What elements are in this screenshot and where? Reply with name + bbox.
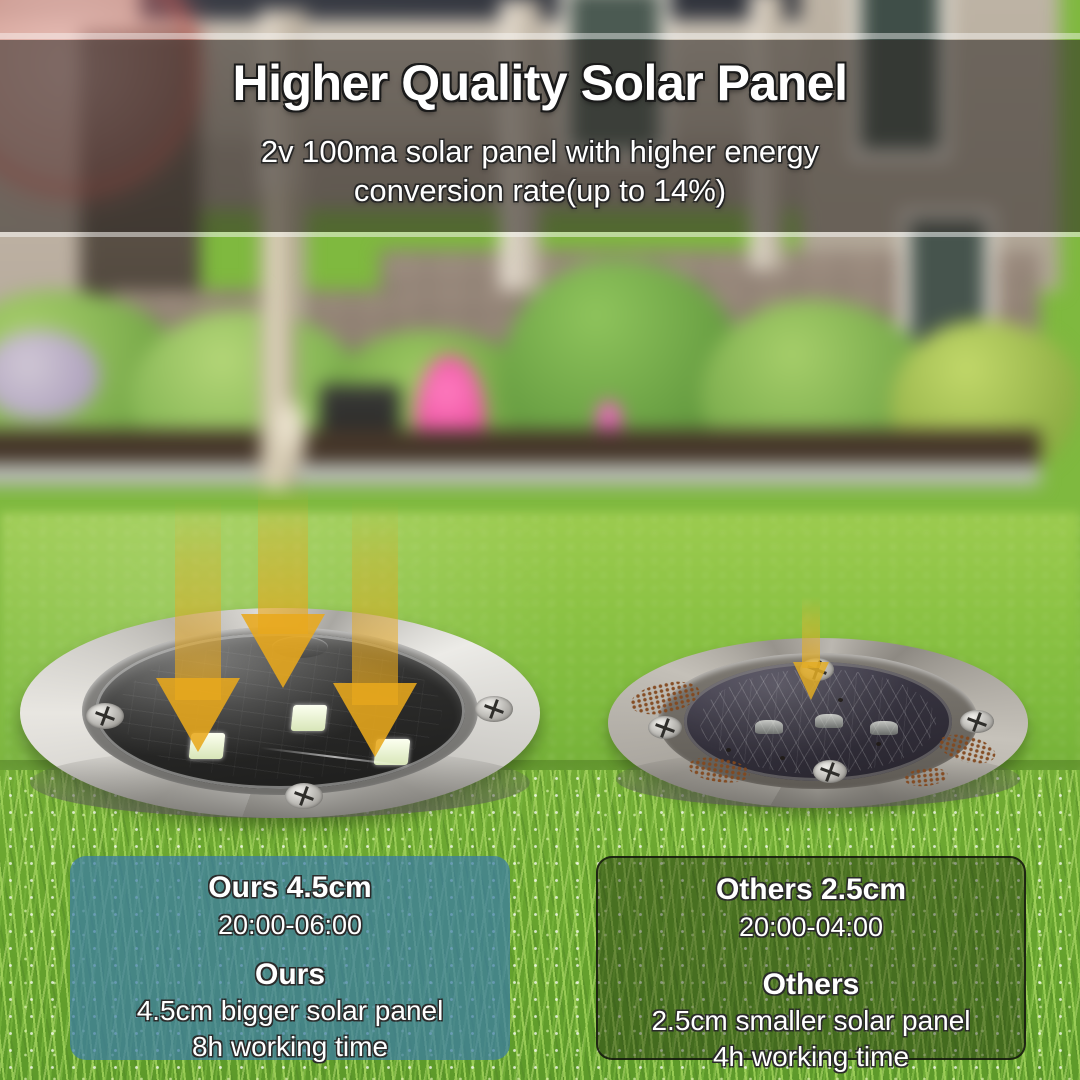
others-led-chip-2 xyxy=(815,714,843,728)
ours-card-detail-2: 8h working time xyxy=(70,1029,510,1065)
ours-card-time: 20:00-06:00 xyxy=(70,908,510,943)
others-card-title: Others 2.5cm xyxy=(598,872,1024,909)
arrow-head xyxy=(156,678,240,752)
others-card-time: 20:00-04:00 xyxy=(598,910,1024,945)
others-dirt-speck-2 xyxy=(876,742,881,746)
sunlight-arrow-ours-3 xyxy=(352,500,398,765)
sunlight-arrow-ours-2 xyxy=(258,488,308,708)
others-led-chip-3 xyxy=(870,721,898,735)
product-comparison-infographic: Higher Quality Solar Panel 2v 100ma sola… xyxy=(0,0,1080,1080)
ours-screw-3 xyxy=(285,783,323,809)
ours-screw-1 xyxy=(86,703,124,729)
garden-curb xyxy=(0,464,1040,486)
page-subtitle: 2v 100ma solar panel with higher energy … xyxy=(0,132,1080,211)
others-screw-1 xyxy=(648,716,682,739)
others-dirt-speck-4 xyxy=(780,756,785,760)
others-dirt-speck-3 xyxy=(838,698,843,702)
header-banner: Higher Quality Solar Panel 2v 100ma sola… xyxy=(0,40,1080,232)
arrow-shaft xyxy=(352,500,398,705)
sunlight-arrow-others-1 xyxy=(800,596,822,700)
others-dirt-speck-1 xyxy=(726,748,731,752)
arrow-head xyxy=(241,614,325,688)
arrow-shaft xyxy=(175,500,221,700)
arrow-head xyxy=(333,683,417,757)
others-card-detail-1: 2.5cm smaller solar panel xyxy=(598,1003,1024,1039)
banner-bottom-highlight-band xyxy=(0,232,1080,237)
others-card-brand: Others xyxy=(598,967,1024,1003)
arrow-head xyxy=(793,662,829,700)
ours-led-chip-2 xyxy=(291,705,328,731)
ours-card-detail-1: 4.5cm bigger solar panel xyxy=(70,993,510,1029)
sunlight-arrow-ours-1 xyxy=(175,500,221,760)
page-subtitle-line-1: 2v 100ma solar panel with higher energy xyxy=(0,132,1080,171)
ours-card-brand: Ours xyxy=(70,957,510,993)
arrow-shaft xyxy=(802,596,820,668)
page-title: Higher Quality Solar Panel xyxy=(0,54,1080,112)
others-screw-3 xyxy=(813,760,847,783)
others-led-chip-1 xyxy=(755,720,783,734)
comparison-card-ours: Ours 4.5cm 20:00-06:00 Ours 4.5cm bigger… xyxy=(70,856,510,1060)
arrow-shaft xyxy=(258,488,308,634)
page-subtitle-line-2: conversion rate(up to 14%) xyxy=(0,171,1080,210)
others-screw-2 xyxy=(960,710,994,733)
tree-trunk-knot xyxy=(276,400,306,470)
comparison-card-others: Others 2.5cm 20:00-04:00 Others 2.5cm sm… xyxy=(596,856,1026,1060)
ours-screw-2 xyxy=(475,696,513,722)
ours-card-title: Ours 4.5cm xyxy=(70,870,510,907)
others-card-detail-2: 4h working time xyxy=(598,1039,1024,1075)
banner-top-highlight-band xyxy=(0,33,1080,39)
